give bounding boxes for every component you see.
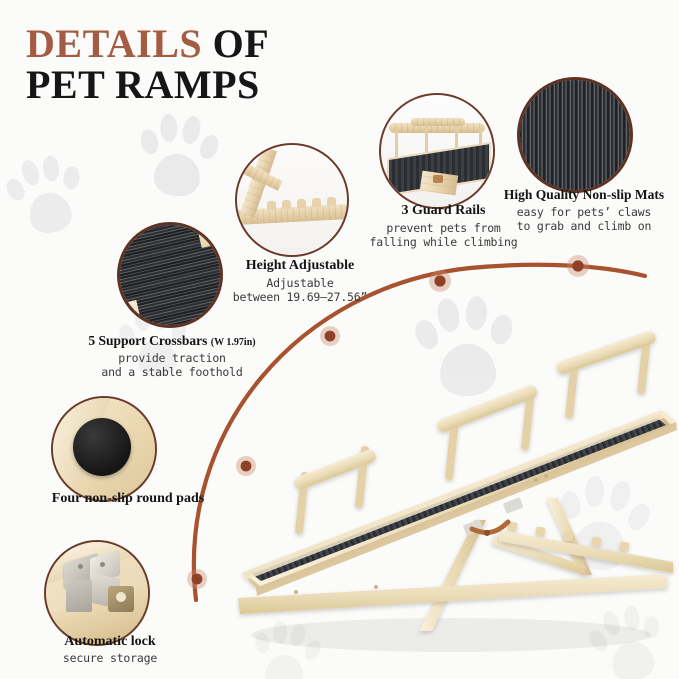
callout-image-non-slip-mats <box>517 77 633 193</box>
callout-label-automatic-lock: Automatic lock secure storage <box>20 634 200 665</box>
callout-head-non-slip-mats: High Quality Non-slip Mats <box>489 187 679 203</box>
paw-print-icon <box>133 105 225 204</box>
title-line1-rest: OF <box>202 21 269 66</box>
callout-image-round-pads <box>51 396 157 502</box>
callout-sub-automatic-lock: secure storage <box>20 651 200 665</box>
callout-image-automatic-lock <box>44 540 150 646</box>
callout-image-support-crossbars <box>117 222 223 328</box>
callout-sub-non-slip-mats-1: easy for pets’ claws <box>489 205 679 219</box>
callout-label-height-adjustable: Height Adjustable Adjustable between 19.… <box>220 258 380 304</box>
callout-sub-height-adjustable-2: between 19.69–27.56” <box>220 290 380 304</box>
callout-sub-guard-rails-2: falling while climbing <box>356 235 531 249</box>
callout-image-height-adjustable <box>235 143 349 257</box>
page-title: DETAILS OF PET RAMPS <box>26 24 269 106</box>
callout-label-non-slip-mats: High Quality Non-slip Mats easy for pets… <box>489 187 679 233</box>
product-image-pet-ramp <box>236 330 679 660</box>
callout-head-automatic-lock: Automatic lock <box>20 634 200 650</box>
callout-sub-non-slip-mats-2: to grab and climb on <box>489 219 679 233</box>
callout-head-support-crossbars-text: 5 Support Crossbars <box>88 333 207 348</box>
callout-head-round-pads: Four non-slip round pads <box>18 491 238 507</box>
pet-ramp-illustration <box>236 330 679 660</box>
callout-head-height-adjustable: Height Adjustable <box>220 258 380 274</box>
title-accent-word: DETAILS <box>26 21 202 66</box>
title-line2: PET RAMPS <box>26 65 269 106</box>
callout-image-guard-rails <box>379 93 495 209</box>
infographic-canvas: DETAILS OF PET RAMPS <box>0 0 679 679</box>
paw-print-icon <box>0 143 93 243</box>
callout-label-round-pads: Four non-slip round pads <box>18 491 238 507</box>
callout-sub-height-adjustable-1: Adjustable <box>220 276 380 290</box>
